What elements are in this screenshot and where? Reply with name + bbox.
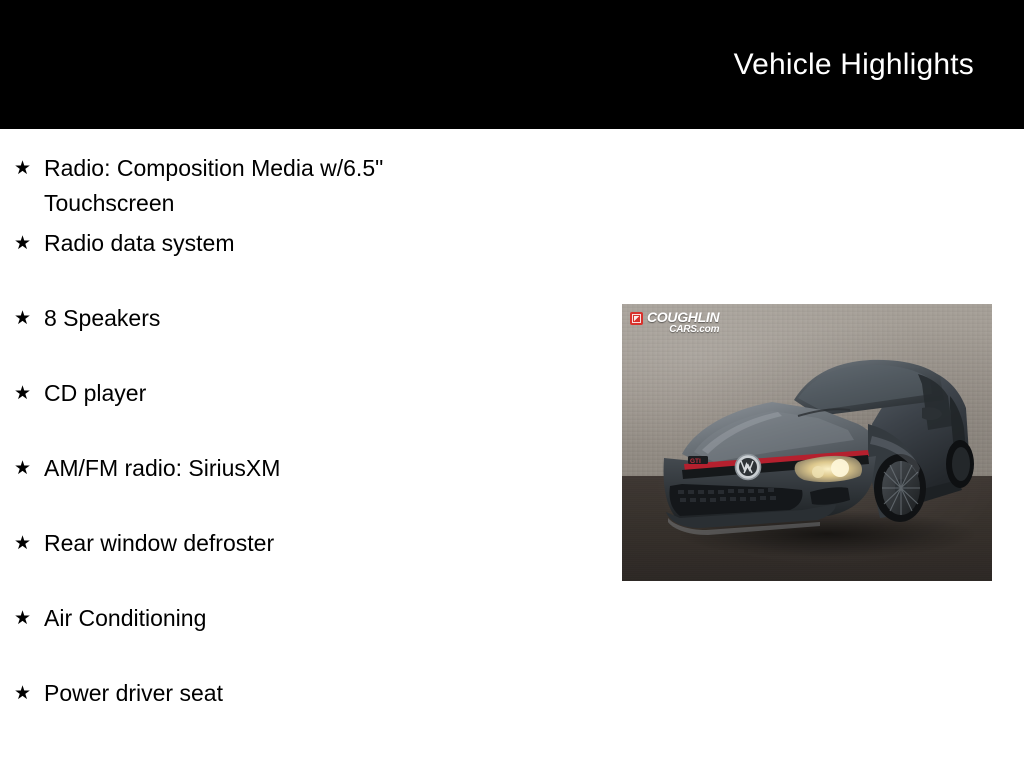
highlight-label: 8 Speakers bbox=[44, 301, 504, 336]
vehicle-car-illustration: GTI bbox=[622, 304, 992, 581]
star-icon: ★ bbox=[14, 226, 44, 261]
svg-text:GTI: GTI bbox=[690, 458, 701, 465]
vehicle-highlights-page: Vehicle Highlights ★ Radio: Composition … bbox=[0, 0, 1024, 768]
highlight-label: CD player bbox=[44, 376, 504, 411]
watermark-line-1: COUGHLIN bbox=[647, 310, 719, 324]
page-header: Vehicle Highlights bbox=[0, 0, 1024, 129]
star-icon: ★ bbox=[14, 601, 44, 636]
star-icon: ★ bbox=[14, 451, 44, 486]
coughlin-logo-icon bbox=[630, 312, 643, 325]
star-icon: ★ bbox=[14, 151, 44, 186]
star-icon: ★ bbox=[14, 301, 44, 336]
list-item: ★ CD player bbox=[0, 376, 600, 451]
vehicle-highlights-list: ★ Radio: Composition Media w/6.5" Touchs… bbox=[0, 129, 600, 751]
list-item: ★ Air Conditioning bbox=[0, 601, 600, 676]
watermark-text: COUGHLIN CARS.com bbox=[647, 310, 719, 335]
star-icon: ★ bbox=[14, 526, 44, 561]
list-item: ★ Rear window defroster bbox=[0, 526, 600, 601]
highlight-label: Radio: Composition Media w/6.5" Touchscr… bbox=[44, 151, 504, 221]
page-title: Vehicle Highlights bbox=[734, 48, 1024, 82]
list-item: ★ Power driver seat bbox=[0, 676, 600, 751]
list-item: ★ 8 Speakers bbox=[0, 301, 600, 376]
vehicle-photo: GTI bbox=[622, 304, 992, 581]
star-icon: ★ bbox=[14, 676, 44, 711]
star-icon: ★ bbox=[14, 376, 44, 411]
highlight-label: Power driver seat bbox=[44, 676, 504, 711]
list-item: ★ Radio data system bbox=[0, 226, 600, 301]
highlight-label: Rear window defroster bbox=[44, 526, 504, 561]
highlight-label: Air Conditioning bbox=[44, 601, 504, 636]
watermark-line-2: CARS.com bbox=[647, 325, 719, 335]
highlight-label: Radio data system bbox=[44, 226, 504, 261]
list-item: ★ Radio: Composition Media w/6.5" Touchs… bbox=[0, 151, 600, 226]
highlight-label: AM/FM radio: SiriusXM bbox=[44, 451, 504, 486]
list-item: ★ AM/FM radio: SiriusXM bbox=[0, 451, 600, 526]
photo-watermark: COUGHLIN CARS.com bbox=[630, 310, 719, 335]
